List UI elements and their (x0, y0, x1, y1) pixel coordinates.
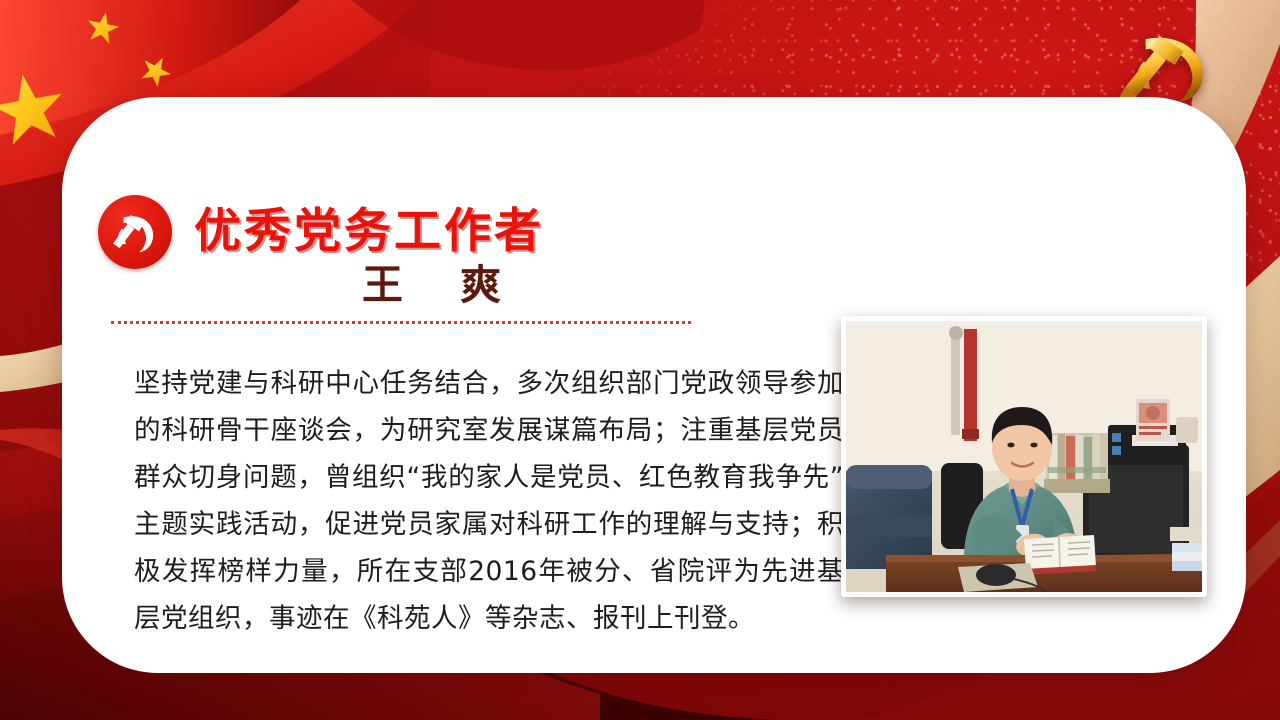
party-emblem-icon (98, 195, 172, 269)
section-divider (111, 321, 691, 324)
person-photo (841, 316, 1207, 597)
flag-star-large (0, 68, 72, 154)
flag-star-small-2 (135, 51, 177, 93)
page-title: 优秀党务工作者 (194, 209, 544, 256)
title-row: 优秀党务工作者 (98, 195, 544, 269)
slide-canvas: 优秀党务工作者 王 爽 坚持党建与科研中心任务结合，多次组织部门党政领导参加的科… (0, 0, 1280, 720)
hammer-sickle-icon (1114, 22, 1222, 108)
person-name: 王 爽 (362, 265, 509, 306)
content-card: 优秀党务工作者 王 爽 坚持党建与科研中心任务结合，多次组织部门党政领导参加的科… (62, 97, 1246, 673)
flag-star-small-1 (83, 9, 122, 48)
body-paragraph: 坚持党建与科研中心任务结合，多次组织部门党政领导参加的科研骨干座谈会，为研究室发… (134, 360, 844, 642)
